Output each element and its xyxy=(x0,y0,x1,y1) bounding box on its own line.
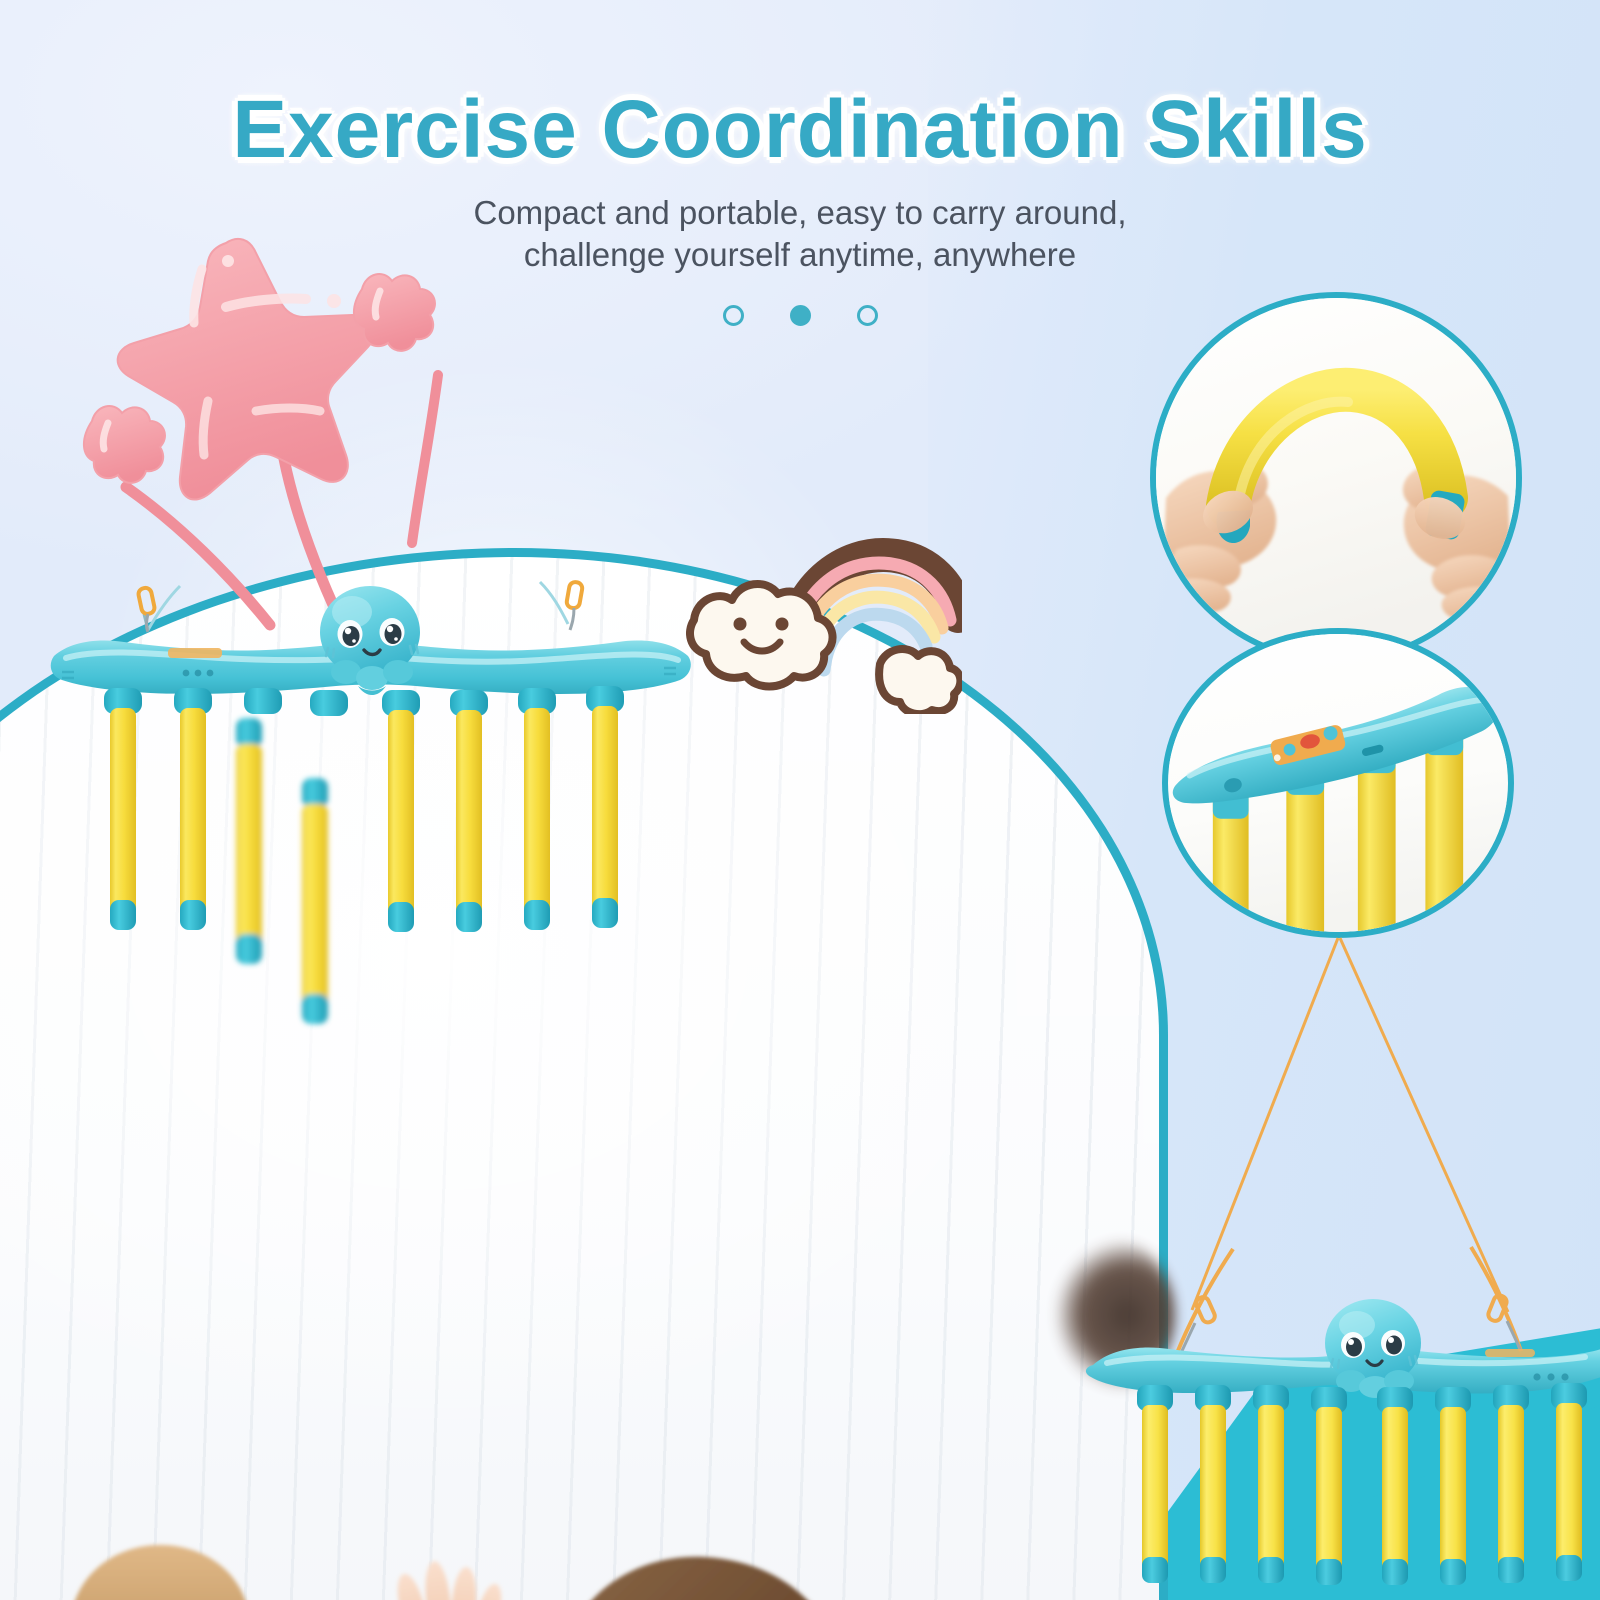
inset-control-panel xyxy=(1162,628,1514,938)
sticks-br xyxy=(1137,1383,1587,1585)
stick-5 xyxy=(382,690,420,932)
rainbow-cloud-decoration xyxy=(672,524,962,714)
cloud-eye-right xyxy=(776,618,789,631)
cloud-right xyxy=(879,649,960,714)
pink-flower-small-left xyxy=(84,406,165,483)
cloud-face-left xyxy=(690,584,833,687)
pagination-dot-3[interactable] xyxy=(857,305,878,326)
bar-speaker-dots xyxy=(183,670,214,677)
stick-7 xyxy=(518,688,556,930)
br-stick-2 xyxy=(1195,1385,1231,1583)
sticks-attached xyxy=(104,686,624,932)
br-stick-1 xyxy=(1137,1385,1173,1583)
page-title: Exercise Coordination Skills xyxy=(0,88,1600,172)
pagination-dot-1[interactable] xyxy=(723,305,744,326)
trail-line-3 xyxy=(412,375,438,543)
control-panel-strip xyxy=(168,648,222,658)
octopus-stick-drop-toy-hanging xyxy=(1085,1245,1600,1600)
octopus-stick-drop-toy xyxy=(40,560,700,1040)
stick-8 xyxy=(586,686,624,928)
falling-stick-2 xyxy=(302,778,328,1024)
pink-flower-small-right xyxy=(354,274,435,351)
stick-4-empty xyxy=(310,690,348,716)
stick-2 xyxy=(174,688,212,930)
octopus-character xyxy=(320,586,420,695)
br-stick-3 xyxy=(1253,1385,1289,1583)
br-stick-4 xyxy=(1311,1387,1347,1585)
stick-1 xyxy=(104,688,142,930)
stick-3-empty xyxy=(244,688,282,714)
br-stick-8 xyxy=(1551,1383,1587,1581)
falling-stick-1 xyxy=(236,718,262,964)
br-stick-7 xyxy=(1493,1385,1529,1583)
cloud-eye-left xyxy=(734,618,747,631)
octopus-character-br xyxy=(1325,1299,1421,1398)
stick-6 xyxy=(450,690,488,932)
sticks-falling xyxy=(236,718,328,1024)
inset-control-panel-circle xyxy=(1162,628,1514,938)
pagination-dot-2-active[interactable] xyxy=(790,305,811,326)
br-stick-5 xyxy=(1377,1387,1413,1585)
promo-stage: Exercise Coordination Skills Compact and… xyxy=(0,0,1600,1600)
inset-bending-stick xyxy=(1150,292,1522,664)
br-stick-6 xyxy=(1435,1387,1471,1585)
